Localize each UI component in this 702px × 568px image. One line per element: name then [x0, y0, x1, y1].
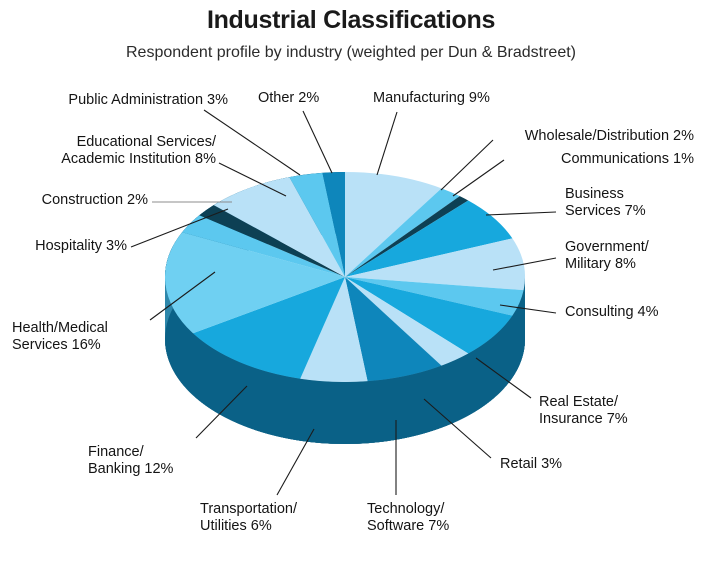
label-government-line1: Government/	[565, 239, 700, 256]
label-other: Other 2%	[258, 90, 368, 107]
label-construction: Construction 2%	[0, 192, 148, 209]
label-educational-services-line1: Educational Services/	[0, 134, 216, 151]
label-transportation-line1: Transportation/	[200, 501, 380, 518]
label-government-line2: Military 8%	[565, 256, 700, 273]
leader-other	[303, 111, 332, 173]
label-communications: Communications 1%	[452, 151, 694, 168]
leader-business-services	[486, 212, 556, 215]
label-finance-banking-line1: Finance/	[88, 444, 238, 461]
label-technology-line2: Software 7%	[367, 518, 527, 535]
label-manufacturing: Manufacturing 9%	[373, 90, 573, 107]
label-transportation-line2: Utilities 6%	[200, 518, 380, 535]
label-technology-line1: Technology/	[367, 501, 527, 518]
label-real-estate-line1: Real Estate/	[539, 394, 689, 411]
label-health-medical-line1: Health/Medical	[12, 320, 192, 337]
label-health-medical-line2: Services 16%	[12, 337, 192, 354]
chart-stage: Industrial Classifications Respondent pr…	[0, 0, 702, 568]
label-hospitality: Hospitality 3%	[0, 238, 127, 255]
label-public-administration: Public Administration 3%	[0, 92, 228, 109]
label-retail: Retail 3%	[500, 456, 640, 473]
label-educational-services-line2: Academic Institution 8%	[0, 151, 216, 168]
label-business-services-line2: Services 7%	[565, 203, 695, 220]
leader-public-administration	[204, 110, 300, 175]
leader-manufacturing	[377, 112, 397, 175]
label-business-services-line1: Business	[565, 186, 695, 203]
label-real-estate-line2: Insurance 7%	[539, 411, 689, 428]
label-finance-banking-line2: Banking 12%	[88, 461, 238, 478]
label-wholesale: Wholesale/Distribution 2%	[420, 128, 694, 145]
pie-top-surface	[165, 172, 525, 382]
pie-chart-graphic	[0, 0, 702, 568]
label-consulting: Consulting 4%	[565, 304, 702, 321]
